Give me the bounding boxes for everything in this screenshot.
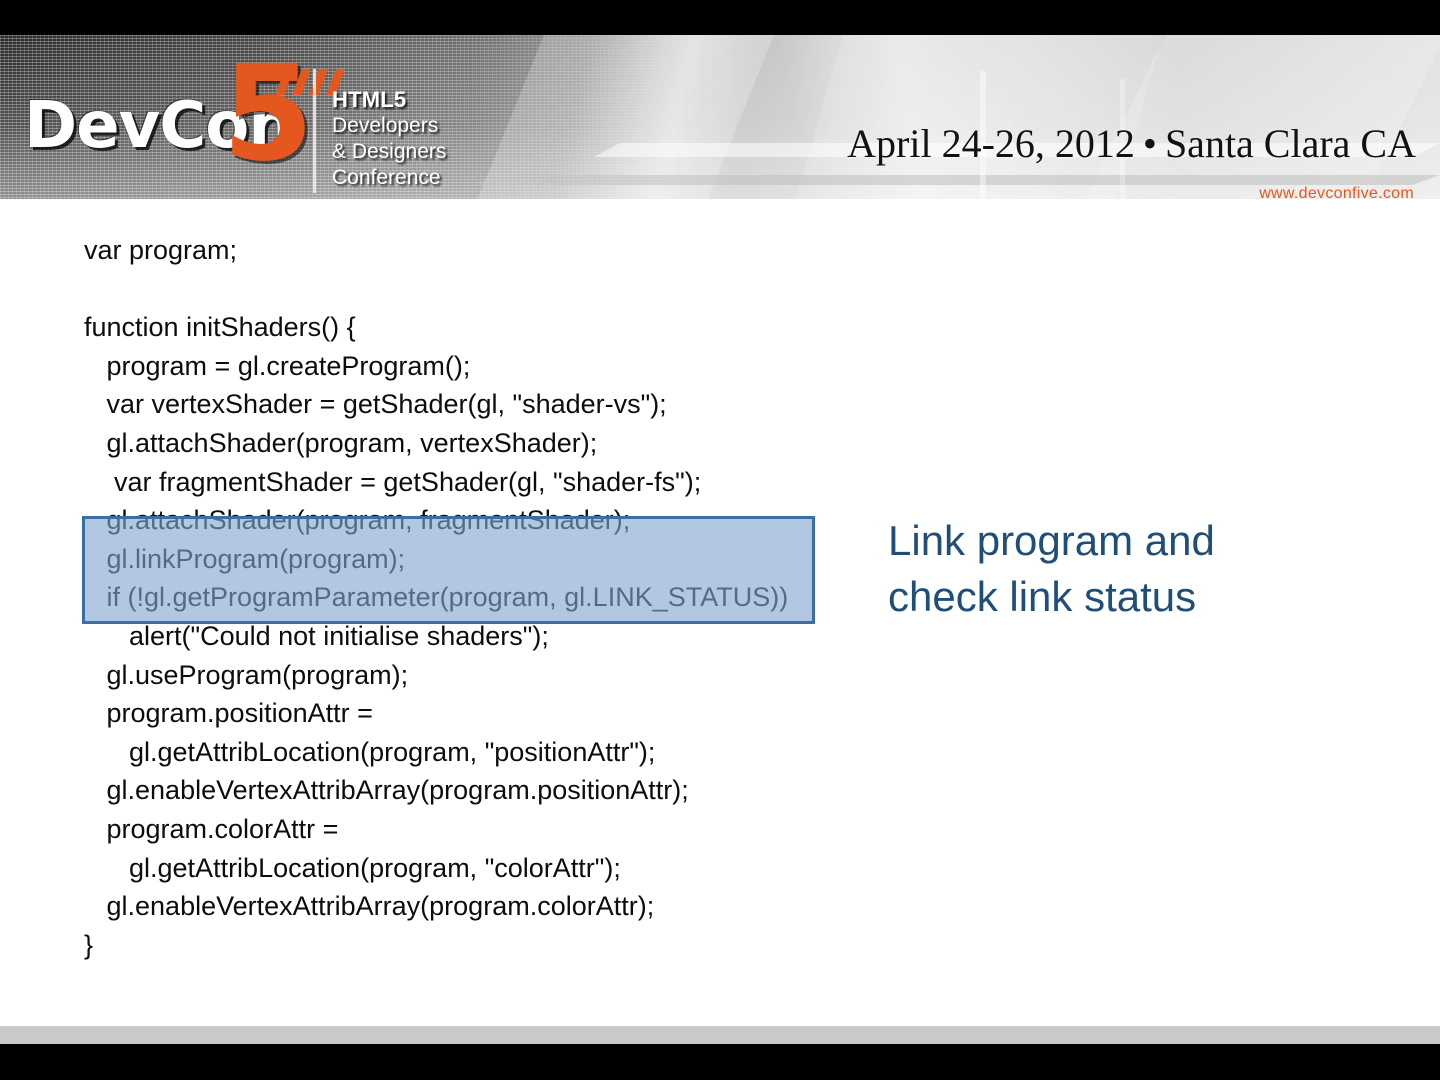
code-line: var program; — [84, 231, 844, 270]
code-line: gl.getAttribLocation(program, "colorAttr… — [84, 849, 844, 888]
bullet-separator-icon: • — [1135, 121, 1165, 166]
code-line: program = gl.createProgram(); — [84, 347, 844, 386]
tagline-designers: & Designers — [332, 139, 446, 165]
code-line: var vertexShader = getShader(gl, "shader… — [84, 385, 844, 424]
code-line: gl.useProgram(program); — [84, 656, 844, 695]
code-line: program.positionAttr = — [84, 694, 844, 733]
logo-divider — [313, 69, 316, 193]
slide-annotation: Link program and check link status — [888, 513, 1308, 625]
code-line — [84, 270, 844, 309]
code-line: function initShaders() { — [84, 308, 844, 347]
tagline-developers: Developers — [332, 113, 446, 139]
slide-content-area: var program; function initShaders() { pr… — [0, 199, 1440, 1026]
event-website-url: www.devconfive.com — [1259, 185, 1414, 199]
code-line: gl.getAttribLocation(program, "positionA… — [84, 733, 844, 772]
code-line: gl.enableVertexAttribArray(program.color… — [84, 887, 844, 926]
annotation-line-1: Link program and — [888, 513, 1308, 569]
devcon5-logo: DevCon 5 HTML5 Developers & Designers Co… — [24, 47, 464, 187]
footer-bar — [0, 1026, 1440, 1044]
code-line: gl.attachShader(program, vertexShader); — [84, 424, 844, 463]
logo-tagline: HTML5 Developers & Designers Conference — [332, 87, 446, 191]
tagline-conference: Conference — [332, 165, 446, 191]
code-line: program.colorAttr = — [84, 810, 844, 849]
bottom-letterbox — [0, 1044, 1440, 1080]
event-date-location: April 24-26, 2012•Santa Clara CA — [847, 120, 1416, 167]
code-line: gl.enableVertexAttribArray(program.posit… — [84, 771, 844, 810]
event-date: April 24-26, 2012 — [847, 121, 1135, 166]
code-line: var fragmentShader = getShader(gl, "shad… — [84, 463, 844, 502]
tagline-html5: HTML5 — [332, 87, 446, 113]
presentation-slide: DevCon 5 HTML5 Developers & Designers Co… — [0, 0, 1440, 1080]
annotation-line-2: check link status — [888, 569, 1308, 625]
header-banner: DevCon 5 HTML5 Developers & Designers Co… — [0, 35, 1440, 199]
event-location: Santa Clara CA — [1165, 121, 1416, 166]
code-line: } — [84, 926, 844, 965]
code-highlight-box — [82, 516, 815, 624]
top-letterbox — [0, 0, 1440, 35]
